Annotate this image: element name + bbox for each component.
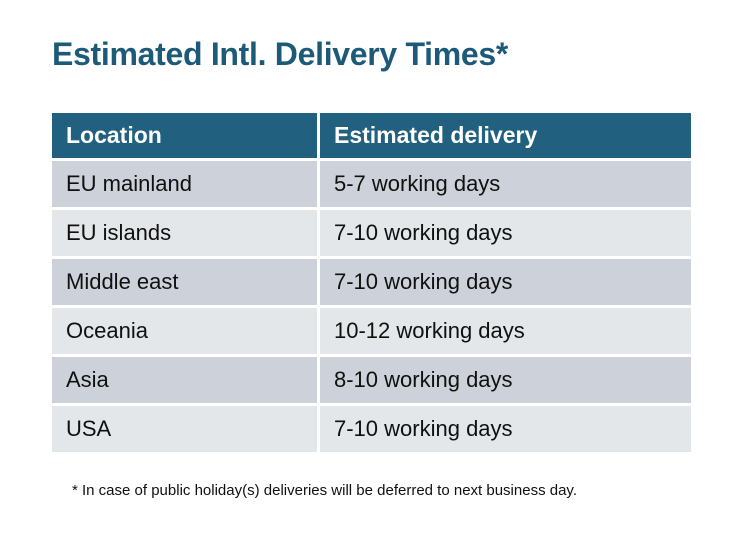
cell-delivery: 8-10 working days <box>320 357 691 403</box>
column-header-estimated-delivery: Estimated delivery <box>320 113 691 158</box>
cell-location: Asia <box>52 357 317 403</box>
page-title: Estimated Intl. Delivery Times* <box>52 36 508 73</box>
table-row: Middle east 7-10 working days <box>52 259 691 305</box>
table-row: Asia 8-10 working days <box>52 357 691 403</box>
column-header-location: Location <box>52 113 317 158</box>
cell-location: EU islands <box>52 210 317 256</box>
table-row: EU mainland 5-7 working days <box>52 161 691 207</box>
cell-delivery: 5-7 working days <box>320 161 691 207</box>
cell-location: Oceania <box>52 308 317 354</box>
delivery-times-panel: Estimated Intl. Delivery Times* Location… <box>0 0 745 536</box>
delivery-times-table: Location Estimated delivery EU mainland … <box>52 113 691 452</box>
footnote-text: * In case of public holiday(s) deliverie… <box>72 482 577 499</box>
table-header-row: Location Estimated delivery <box>52 113 691 158</box>
cell-location: EU mainland <box>52 161 317 207</box>
cell-delivery: 7-10 working days <box>320 210 691 256</box>
table-row: EU islands 7-10 working days <box>52 210 691 256</box>
cell-location: Middle east <box>52 259 317 305</box>
cell-delivery: 7-10 working days <box>320 259 691 305</box>
cell-location: USA <box>52 406 317 452</box>
table-row: Oceania 10-12 working days <box>52 308 691 354</box>
cell-delivery: 10-12 working days <box>320 308 691 354</box>
table-row: USA 7-10 working days <box>52 406 691 452</box>
cell-delivery: 7-10 working days <box>320 406 691 452</box>
